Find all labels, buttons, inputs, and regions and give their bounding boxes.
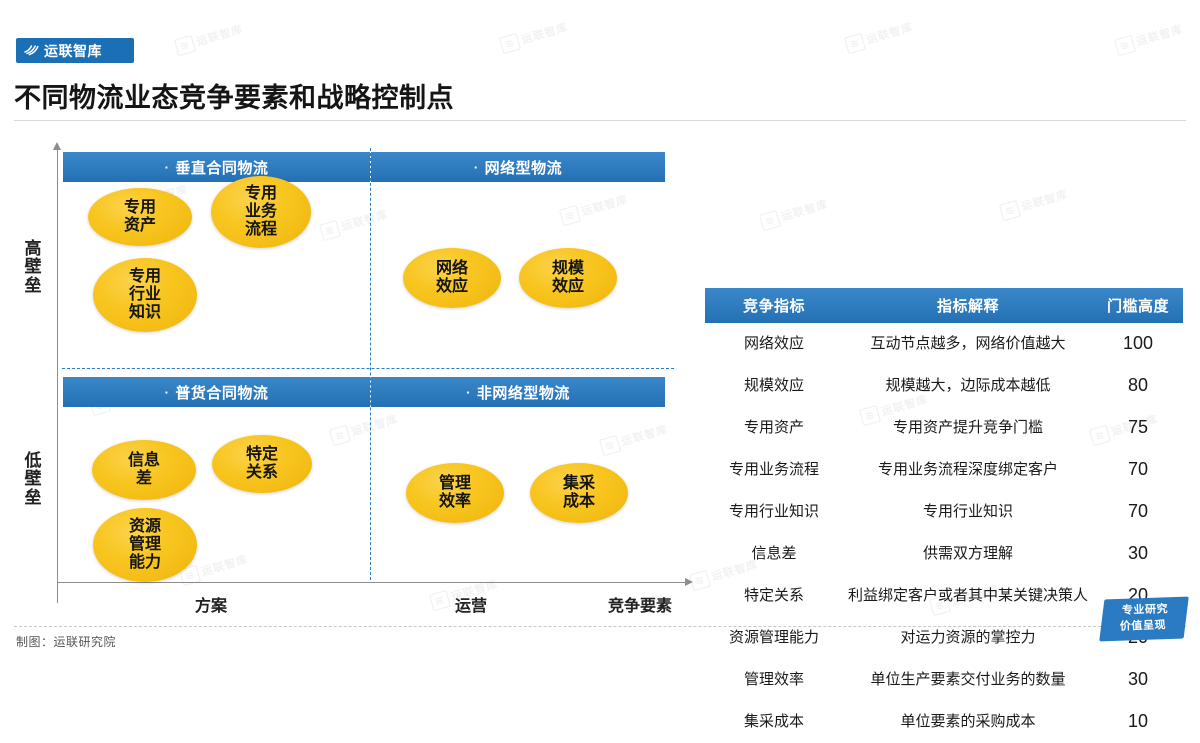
metric-threshold-score: 80 — [1093, 365, 1183, 407]
factor-bubble-line: 专用 — [245, 185, 277, 203]
factor-bubble: 信息差 — [92, 440, 196, 500]
table-row: 专用资产专用资产提升竞争门槛75 — [705, 407, 1183, 449]
factor-bubble-line: 专用 — [129, 268, 161, 286]
chart-credit: 制图：运联研究院 — [16, 633, 116, 650]
page-title: 不同物流业态竞争要素和战略控制点 — [14, 76, 454, 115]
factor-bubble-line: 差 — [136, 470, 152, 488]
quadrant-matrix: 高壁垒 低壁垒 方案 运营 竞争要素 · 垂直合同物流 · 网络型物流 · 普货… — [0, 130, 700, 630]
factor-bubble-line: 行业 — [129, 286, 161, 304]
factor-bubble-line: 规模 — [552, 260, 584, 278]
factor-bubble-line: 资产 — [124, 217, 156, 235]
slogan-line-2: 价值呈现 — [1120, 618, 1167, 635]
quadrant-divider-horizontal — [62, 368, 674, 369]
watermark: ≋运联智库 — [844, 19, 915, 54]
factor-bubble: 专用业务流程 — [211, 176, 311, 248]
swirl-icon — [23, 40, 39, 61]
metric-name: 专用业务流程 — [705, 449, 843, 491]
factor-bubble-line: 成本 — [563, 493, 595, 511]
factor-bubble-line: 能力 — [129, 554, 161, 572]
quadrant-header-vertical-contract-logistics: · 垂直合同物流 — [63, 152, 370, 182]
factor-bubble-line: 关系 — [246, 464, 278, 482]
metric-threshold-score: 70 — [1093, 491, 1183, 533]
factor-bubble-line: 效率 — [439, 493, 471, 511]
factor-bubble-line: 效应 — [552, 278, 584, 296]
factor-bubble: 网络效应 — [403, 248, 501, 308]
x-axis-line — [57, 582, 687, 583]
metric-explanation: 供需双方理解 — [843, 533, 1093, 575]
slogan-line-1: 专业研究 — [1122, 602, 1169, 619]
metric-explanation: 单位生产要素交付业务的数量 — [843, 659, 1093, 701]
watermark: ≋运联智库 — [1114, 21, 1185, 56]
factor-bubble-line: 专用 — [124, 199, 156, 217]
brand-logo: 运联智库 — [16, 38, 134, 63]
y-axis-line — [57, 148, 58, 603]
x-axis-tick-plan: 方案 — [195, 592, 227, 616]
metric-explanation: 专用行业知识 — [843, 491, 1093, 533]
quadrant-header-label: 非网络型物流 — [477, 382, 570, 403]
metric-name: 管理效率 — [705, 659, 843, 701]
metric-name: 资源管理能力 — [705, 617, 843, 659]
y-axis-label-low: 低壁垒 — [22, 452, 44, 507]
metric-name: 信息差 — [705, 533, 843, 575]
quadrant-header-label: 垂直合同物流 — [175, 157, 268, 178]
y-axis-label-high: 高壁垒 — [22, 240, 44, 295]
column-header-explanation: 指标解释 — [843, 288, 1093, 323]
table-header-row: 竞争指标 指标解释 门槛高度 — [705, 288, 1183, 323]
quadrant-header-network-logistics: · 网络型物流 — [371, 152, 665, 182]
table-body: 网络效应互动节点越多，网络价值越大100规模效应规模越大，边际成本越低80专用资… — [705, 323, 1183, 743]
competition-metrics-table: 竞争指标 指标解释 门槛高度 网络效应互动节点越多，网络价值越大100规模效应规… — [705, 288, 1177, 743]
bullet-dot-icon: · — [165, 385, 170, 400]
metric-explanation: 规模越大，边际成本越低 — [843, 365, 1093, 407]
table-row: 管理效率单位生产要素交付业务的数量30 — [705, 659, 1183, 701]
factor-bubble-line: 流程 — [245, 221, 277, 239]
metric-explanation: 对运力资源的掌控力 — [843, 617, 1093, 659]
factor-bubble-line: 信息 — [128, 452, 160, 470]
quadrant-header-non-network-logistics: · 非网络型物流 — [371, 377, 665, 407]
table-row: 网络效应互动节点越多，网络价值越大100 — [705, 323, 1183, 365]
watermark: ≋运联智库 — [759, 196, 830, 231]
factor-bubble: 管理效率 — [406, 463, 504, 523]
metric-explanation: 利益绑定客户或者其中某关键决策人 — [843, 575, 1093, 617]
metric-threshold-score: 30 — [1093, 533, 1183, 575]
metric-threshold-score: 70 — [1093, 449, 1183, 491]
metric-name: 集采成本 — [705, 701, 843, 743]
metric-threshold-score: 30 — [1093, 659, 1183, 701]
factor-bubble: 特定关系 — [212, 435, 312, 493]
watermark: ≋运联智库 — [174, 21, 245, 56]
quadrant-header-label: 普货合同物流 — [175, 382, 268, 403]
quadrant-header-label: 网络型物流 — [485, 157, 563, 178]
table-row: 信息差供需双方理解30 — [705, 533, 1183, 575]
metric-explanation: 专用资产提升竞争门槛 — [843, 407, 1093, 449]
metric-name: 网络效应 — [705, 323, 843, 365]
factor-bubble: 专用行业知识 — [93, 258, 197, 332]
factor-bubble-line: 网络 — [436, 260, 468, 278]
table-row: 规模效应规模越大，边际成本越低80 — [705, 365, 1183, 407]
metric-threshold-score: 100 — [1093, 323, 1183, 365]
metric-threshold-score: 10 — [1093, 701, 1183, 743]
factor-bubble-line: 资源 — [129, 518, 161, 536]
factor-bubble: 资源管理能力 — [93, 508, 197, 582]
factor-bubble-line: 管理 — [439, 475, 471, 493]
factor-bubble: 集采成本 — [530, 463, 628, 523]
metric-name: 专用资产 — [705, 407, 843, 449]
factor-bubble-line: 特定 — [246, 446, 278, 464]
table-row: 专用业务流程专用业务流程深度绑定客户70 — [705, 449, 1183, 491]
column-header-threshold: 门槛高度 — [1093, 288, 1183, 323]
metric-name: 专用行业知识 — [705, 491, 843, 533]
metric-name: 特定关系 — [705, 575, 843, 617]
factor-bubble: 专用资产 — [88, 188, 192, 246]
title-divider — [14, 120, 1186, 121]
x-axis-title: 竞争要素 — [608, 592, 672, 616]
column-header-metric: 竞争指标 — [705, 288, 843, 323]
metric-explanation: 单位要素的采购成本 — [843, 701, 1093, 743]
x-axis-tick-operations: 运营 — [455, 592, 487, 616]
table-row: 集采成本单位要素的采购成本10 — [705, 701, 1183, 743]
bullet-dot-icon: · — [165, 160, 170, 175]
metric-name: 规模效应 — [705, 365, 843, 407]
factor-bubble-line: 效应 — [436, 278, 468, 296]
bullet-dot-icon: · — [466, 385, 471, 400]
bullet-dot-icon: · — [474, 160, 479, 175]
watermark: ≋运联智库 — [499, 19, 570, 54]
watermark: ≋运联智库 — [999, 186, 1070, 221]
table-row: 专用行业知识专用行业知识70 — [705, 491, 1183, 533]
corner-slogan-badge: 专业研究 价值呈现 — [1099, 597, 1189, 642]
metric-threshold-score: 75 — [1093, 407, 1183, 449]
factor-bubble-line: 业务 — [245, 203, 277, 221]
metric-explanation: 互动节点越多，网络价值越大 — [843, 323, 1093, 365]
quadrant-header-general-cargo-contract-logistics: · 普货合同物流 — [63, 377, 370, 407]
metric-explanation: 专用业务流程深度绑定客户 — [843, 449, 1093, 491]
factor-bubble-line: 集采 — [563, 475, 595, 493]
quadrant-divider-vertical — [370, 148, 371, 580]
factor-bubble: 规模效应 — [519, 248, 617, 308]
factor-bubble-line: 管理 — [129, 536, 161, 554]
x-axis-arrow-icon — [685, 578, 693, 586]
footer-divider — [14, 626, 1186, 627]
brand-logo-text: 运联智库 — [44, 44, 102, 58]
factor-bubble-line: 知识 — [129, 304, 161, 322]
